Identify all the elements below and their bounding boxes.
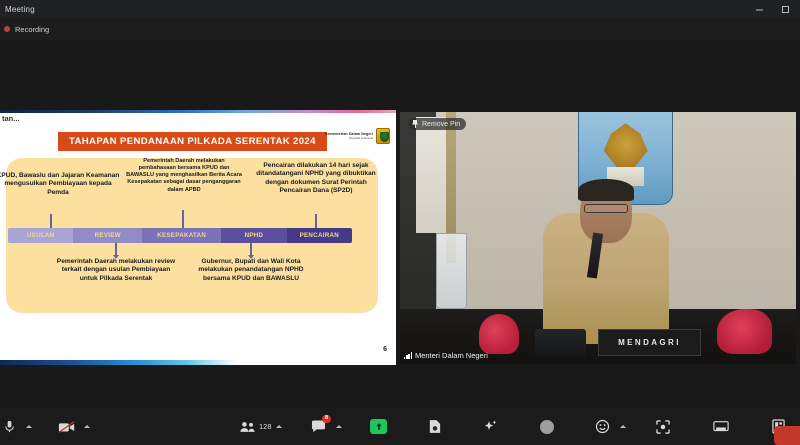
slide-page-number: 6 <box>383 346 387 353</box>
reactions-caret-icon[interactable] <box>620 425 626 428</box>
share-screen-icon <box>370 419 387 434</box>
shared-screen[interactable]: tan... TAHAPAN PENDANAAN PILKADA SERENTA… <box>0 110 396 365</box>
recording-dot-icon <box>4 26 10 32</box>
chat-unread-badge: 8 <box>322 415 330 423</box>
remove-pin-button[interactable]: Remove Pin <box>408 118 466 130</box>
whiteboard-icon <box>713 420 729 434</box>
window-controls <box>746 0 798 18</box>
stage-timeline: USULAN REVIEW KESEPAKATAN NPHD PENCAIRAN <box>8 228 352 243</box>
window-title: Meeting <box>5 5 35 14</box>
slide-title: TAHAPAN PENDANAAN PILKADA SERENTAK 2024 <box>58 132 327 151</box>
emoji-icon <box>595 419 610 434</box>
meeting-window: Meeting Recording tan... TAHAPAN PENDANA… <box>0 0 800 445</box>
record-circle-icon <box>540 420 554 434</box>
reactions-button[interactable] <box>590 408 616 445</box>
whiteboard-button[interactable] <box>708 408 734 445</box>
note-above-2: Pemerintah Daerah melakukan pembahasaan … <box>126 158 242 194</box>
participant-name-label: Menteri Dalam Negeri <box>415 351 488 360</box>
ministry-name-line2: Republik Indonesia <box>325 136 373 140</box>
speaker-hair <box>578 179 633 202</box>
flower-arrangement-right <box>717 309 772 354</box>
microphone-options-caret-icon[interactable] <box>26 425 32 428</box>
water-pitcher <box>436 233 468 309</box>
note-above-3: Pencairan dilakukan 14 hari sejak ditand… <box>256 162 376 195</box>
stem-usulan <box>50 214 52 228</box>
note-below-1: Pemerintah Daerah melakukan review terka… <box>56 258 176 283</box>
leave-meeting-button[interactable] <box>774 426 800 445</box>
chat-caret-icon[interactable] <box>336 425 342 428</box>
speaker-glasses <box>584 204 628 213</box>
pin-icon <box>412 120 419 128</box>
breakout-button[interactable] <box>650 408 676 445</box>
sparkle-icon <box>483 419 498 434</box>
stem-nphd <box>250 243 252 255</box>
nameplate-text: MENDAGRI <box>618 338 681 347</box>
people-icon <box>240 421 256 433</box>
stem-review <box>115 243 117 255</box>
notes-button[interactable] <box>422 408 448 445</box>
participant-count: 128 <box>259 422 272 431</box>
video-tile-pinned[interactable]: MENDAGRI Remove Pin Menteri Dalam Negeri <box>400 112 796 364</box>
maximize-button[interactable] <box>772 0 798 18</box>
stage-segment-usulan[interactable]: USULAN <box>8 228 73 243</box>
window-frame <box>416 117 448 233</box>
camera-off-icon <box>58 420 76 434</box>
signal-bars-icon <box>404 352 412 359</box>
stem-kesepakatan <box>182 210 184 228</box>
stage-segment-kesepakatan[interactable]: KESEPAKATAN <box>142 228 221 243</box>
participants-button[interactable]: 128 <box>240 408 272 445</box>
effects-button[interactable] <box>478 408 504 445</box>
stage-label-pencairan: PENCAIRAN <box>300 232 339 239</box>
document-icon <box>428 419 442 434</box>
record-button[interactable] <box>534 408 560 445</box>
camera-options-caret-icon[interactable] <box>84 425 90 428</box>
ministry-logo: Kementerian Dalam Negeri Republik Indone… <box>325 128 390 144</box>
microphone-button[interactable] <box>0 408 22 445</box>
microphone-muted-icon <box>2 419 17 434</box>
meeting-toolbar: 128 8 <box>0 408 800 445</box>
note-above-1: KPUD, Bawaslu dan Jajaran Keamanan mengu… <box>0 172 122 197</box>
remove-pin-label: Remove Pin <box>422 121 460 128</box>
share-caption: tan... <box>2 114 20 123</box>
chat-button[interactable]: 8 <box>306 408 332 445</box>
stage-segment-pencairan[interactable]: PENCAIRAN <box>287 228 352 243</box>
stage-label-usulan: USULAN <box>27 232 55 239</box>
slide-top-gradient <box>0 110 396 113</box>
stage-label-nphd: NPHD <box>245 232 264 239</box>
camera-button[interactable] <box>54 408 80 445</box>
stage-label-review: REVIEW <box>95 232 121 239</box>
title-bar: Meeting <box>0 0 800 18</box>
slide-bottom-gradient <box>0 360 396 365</box>
video-feed: MENDAGRI <box>400 112 796 364</box>
recording-bar: Recording <box>0 18 800 40</box>
stage-segment-review[interactable]: REVIEW <box>73 228 142 243</box>
meeting-stage: tan... TAHAPAN PENDANAAN PILKADA SERENTA… <box>0 40 800 408</box>
stage-label-kesepakatan: KESEPAKATAN <box>157 232 206 239</box>
minimize-button[interactable] <box>746 0 772 18</box>
stage-segment-nphd[interactable]: NPHD <box>221 228 286 243</box>
stem-pencairan <box>315 214 317 228</box>
breakout-rooms-icon <box>656 420 670 434</box>
ministry-emblem-icon <box>376 128 390 144</box>
flower-arrangement-left <box>479 314 519 354</box>
note-below-2: Gubernur, Bupati dan Wali Kota melakukan… <box>192 258 310 283</box>
participant-name-chip: Menteri Dalam Negeri <box>404 351 488 360</box>
recording-label: Recording <box>15 25 49 34</box>
desk-phone <box>535 329 586 359</box>
share-screen-button[interactable] <box>366 408 392 445</box>
participants-caret-icon[interactable] <box>276 425 282 428</box>
desk-nameplate: MENDAGRI <box>598 329 701 357</box>
